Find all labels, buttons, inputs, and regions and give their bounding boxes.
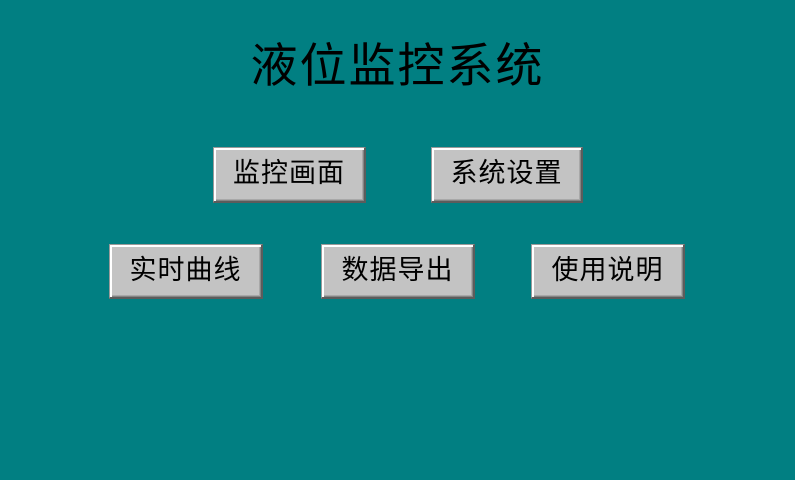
- realtime-curve-button-label: 实时曲线: [130, 257, 242, 284]
- page-title: 液位监控系统: [0, 38, 795, 96]
- system-settings-button-label: 系统设置: [451, 160, 563, 187]
- data-export-button-label: 数据导出: [342, 257, 454, 284]
- user-manual-button-label: 使用说明: [552, 257, 664, 284]
- data-export-button[interactable]: 数据导出: [321, 244, 475, 299]
- monitor-screen-button[interactable]: 监控画面: [213, 147, 366, 203]
- system-settings-button[interactable]: 系统设置: [431, 147, 583, 203]
- realtime-curve-button[interactable]: 实时曲线: [109, 244, 263, 299]
- app-window: 液位监控系统 监控画面 系统设置 实时曲线 数据导出 使用说明: [0, 0, 795, 480]
- user-manual-button[interactable]: 使用说明: [531, 244, 685, 299]
- monitor-screen-button-label: 监控画面: [233, 160, 345, 187]
